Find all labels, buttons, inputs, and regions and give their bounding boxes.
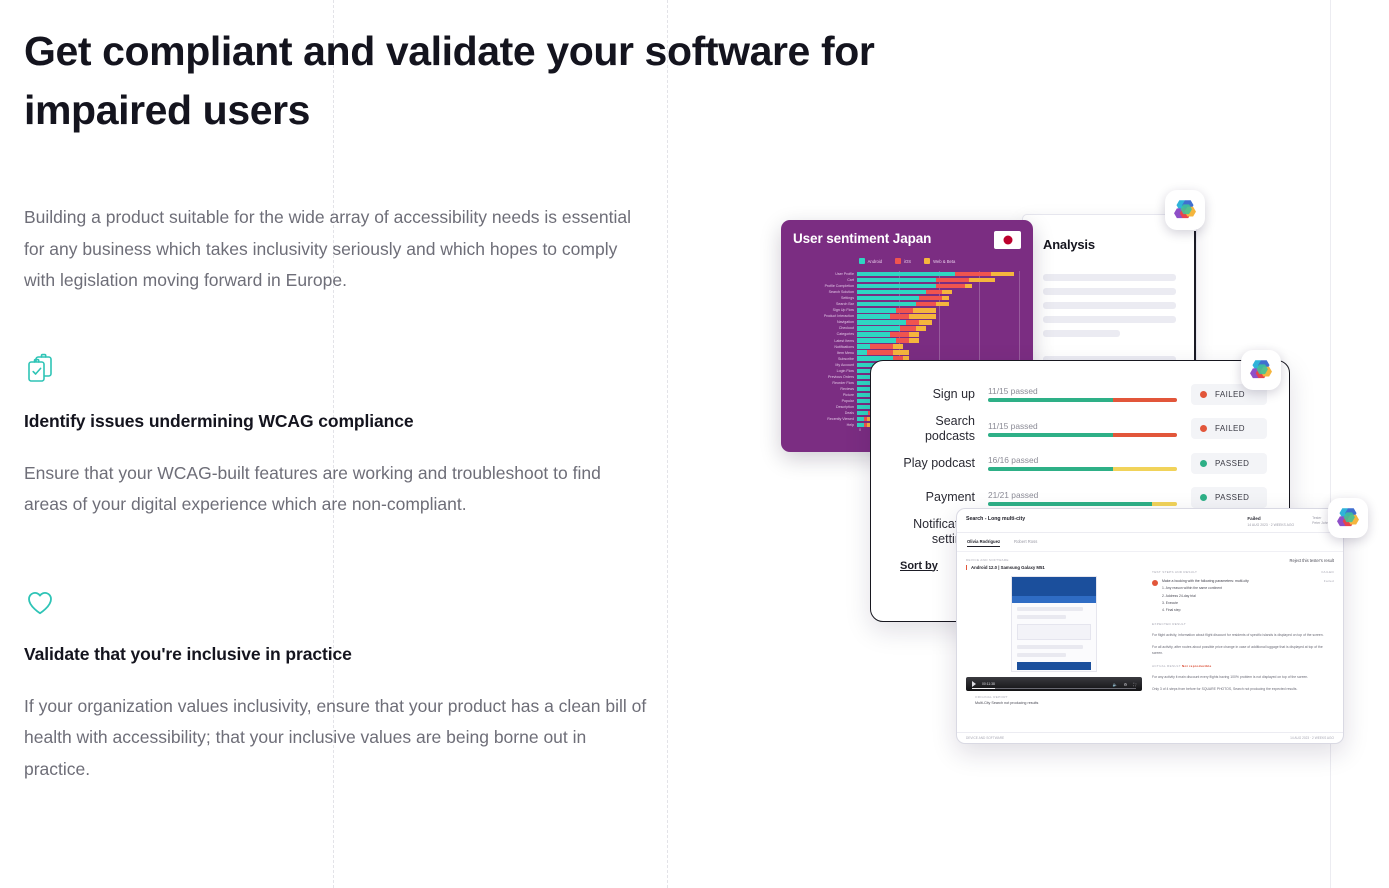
original-report-text: Multi-City Search not producing results xyxy=(975,701,1133,705)
chart-bar-segment xyxy=(890,332,910,336)
skeleton-line xyxy=(1043,288,1176,295)
test-progress: 11/15 passed xyxy=(988,421,1191,437)
chart-bar-segment xyxy=(867,350,893,354)
hexagon-logo-icon xyxy=(1241,350,1281,390)
actual-result-flag: Not reproducible xyxy=(1182,664,1212,668)
feature-title: Identify issues undermining WCAG complia… xyxy=(24,411,664,432)
chart-bar-track xyxy=(857,332,1021,336)
tester-tabs[interactable]: Olivia Rodriguez Robert Ross xyxy=(957,533,1343,552)
chart-bar-track xyxy=(857,344,1021,348)
analysis-title: Analysis xyxy=(1043,237,1176,252)
page-title: Get compliant and validate your software… xyxy=(24,22,984,140)
chart-bar-segment xyxy=(857,344,870,348)
chart-bar-segment xyxy=(857,308,896,312)
test-row[interactable]: Search podcasts11/15 passedFAILED xyxy=(893,412,1267,447)
test-progress-bar xyxy=(988,467,1177,471)
progress-pass-segment xyxy=(988,398,1113,402)
chart-bar-label: Search Solution xyxy=(793,290,857,294)
chart-bar-segment xyxy=(909,338,919,342)
legend-swatch xyxy=(924,258,930,264)
chart-bar-segment xyxy=(919,320,932,324)
chart-bar-segment xyxy=(857,314,890,318)
expected-result-block: EXPECTED RESULT For flight activity, inf… xyxy=(1152,622,1334,656)
chart-legend: AndroidiOSWeb & Beta xyxy=(793,258,1021,264)
volume-icon[interactable]: 🔈 xyxy=(1113,682,1118,687)
chart-bar-track xyxy=(857,302,1021,306)
fail-dot-icon xyxy=(1200,425,1207,432)
chart-bar-label: Sign Up Flow xyxy=(793,308,857,312)
chart-bar-label: Recently Viewed xyxy=(793,417,857,421)
chart-bar-segment xyxy=(893,350,909,354)
app-line xyxy=(1017,653,1066,657)
feature-body: If your organization values inclusivity,… xyxy=(24,691,649,786)
chart-bar-label: Settings xyxy=(793,296,857,300)
chart-bar-label: Deals xyxy=(793,411,857,415)
chart-bar-segment xyxy=(916,302,936,306)
status-badge: PASSED xyxy=(1191,453,1267,474)
status-label: FAILED xyxy=(1215,390,1245,399)
step-bullet: 2. Address 24-day trial xyxy=(1162,594,1320,599)
test-count: 11/15 passed xyxy=(988,386,1177,396)
chart-bar-label: Help xyxy=(793,423,857,427)
chart-bar-segment xyxy=(857,320,906,324)
expected-kicker: EXPECTED RESULT xyxy=(1152,622,1334,626)
steps-header: TEST STEPS AND RESULT FAILED xyxy=(1152,570,1334,574)
step-title: Make a booking with the following parame… xyxy=(1162,579,1320,584)
chart-bar-segment xyxy=(890,314,910,318)
device-name: Android 12.0 | Samsung Galaxy M51 xyxy=(966,565,1142,570)
feature-block-compliance: Identify issues undermining WCAG complia… xyxy=(24,353,664,521)
chart-bar-segment xyxy=(942,290,952,294)
chart-bar-segment xyxy=(913,308,936,312)
progress-pass-segment xyxy=(988,467,1113,471)
chart-bar-label: Product Interaction xyxy=(793,314,857,318)
page-root: Get compliant and validate your software… xyxy=(0,0,1389,888)
heart-icon xyxy=(24,586,56,618)
fail-dot-icon xyxy=(1152,580,1158,586)
chart-bar-segment xyxy=(857,284,936,288)
chart-bar-label: Picture xyxy=(793,393,857,397)
test-progress-bar xyxy=(988,433,1177,437)
original-report-kicker: ORIGINAL REPORT xyxy=(975,695,1133,699)
footer-right-text: 14 AUG 2023 · 2 WEEKS AGO xyxy=(1290,736,1334,740)
pass-dot-icon xyxy=(1200,494,1207,501)
chart-bar-label: Categories xyxy=(793,332,857,336)
progress-remainder-segment xyxy=(1113,398,1177,402)
test-count: 11/15 passed xyxy=(988,421,1177,431)
chart-bar-label: Profile Completion xyxy=(793,284,857,288)
actual-text-2: Only 3 of 4 steps from before for SQUARE… xyxy=(1152,687,1334,692)
detail-footer: DEVICE AND SOFTWARE 14 AUG 2023 · 2 WEEK… xyxy=(957,732,1343,743)
chart-bar-label: Description xyxy=(793,405,857,409)
test-count: 16/16 passed xyxy=(988,455,1177,465)
legend-swatch xyxy=(859,258,865,264)
steps-kicker: TEST STEPS AND RESULT xyxy=(1152,570,1197,574)
expected-text-2: For all activity, after routes about pos… xyxy=(1152,645,1334,656)
status-label: PASSED xyxy=(1215,493,1249,502)
sentiment-card-title: User sentiment Japan xyxy=(793,231,931,246)
test-row[interactable]: Sign up11/15 passedFAILED xyxy=(893,377,1267,412)
step-bullet: 3. Execute xyxy=(1162,601,1320,606)
chart-bar-segment xyxy=(936,302,949,306)
chart-bar-segment xyxy=(965,284,972,288)
chart-bar-segment xyxy=(955,272,991,276)
test-detail-card: Search - Long multi-city Failed 14 AUG 2… xyxy=(956,508,1344,744)
step-item: Make a booking with the following parame… xyxy=(1152,579,1334,614)
test-progress: 16/16 passed xyxy=(988,455,1191,471)
status-label: PASSED xyxy=(1215,459,1249,468)
settings-icon[interactable]: ⚙ xyxy=(1124,682,1128,687)
chart-bar-track xyxy=(857,326,1021,330)
chart-bar-label: Cart xyxy=(793,278,857,282)
footer-left-text: DEVICE AND SOFTWARE xyxy=(966,736,1004,740)
detail-left-column: DEVICE AND SOFTWARE Android 12.0 | Samsu… xyxy=(966,558,1142,705)
player-timestamp: 00:11:38 xyxy=(982,682,995,686)
test-row[interactable]: Play podcast16/16 passedPASSED xyxy=(893,446,1267,481)
chart-bar-label: Login Flow xyxy=(793,369,857,373)
chart-bar-segment xyxy=(857,290,926,294)
chart-bar-track xyxy=(857,338,1021,342)
actual-result-block: ACTUAL RESULT Not reproducible For any a… xyxy=(1152,664,1334,693)
steps-status: FAILED xyxy=(1322,570,1334,574)
app-cta-button xyxy=(1017,662,1091,670)
chart-bar-segment xyxy=(857,405,870,409)
test-progress: 11/15 passed xyxy=(988,386,1191,402)
chart-bar-segment xyxy=(857,350,867,354)
chart-bar-segment xyxy=(896,338,909,342)
video-player-controls[interactable]: 00:11:38 🔈 ⚙ ⛶ xyxy=(966,677,1142,691)
status-timestamp: 14 AUG 2023 · 2 WEEKS AGO xyxy=(1247,523,1294,527)
chart-bar-segment xyxy=(857,302,916,306)
chart-bar-segment xyxy=(870,344,893,348)
chart-bar-label: Search Bar xyxy=(793,302,857,306)
detail-body: DEVICE AND SOFTWARE Android 12.0 | Samsu… xyxy=(957,552,1343,711)
app-line xyxy=(1017,615,1066,619)
progress-remainder-segment xyxy=(1113,433,1177,437)
app-header-bar xyxy=(1012,577,1096,596)
detail-header-right: Failed 14 AUG 2023 · 2 WEEKS AGO Tester … xyxy=(1247,516,1334,527)
chart-bar-label: Reorder Flow xyxy=(793,381,857,385)
chart-bar-segment xyxy=(896,308,912,312)
chart-bar-segment xyxy=(857,411,868,415)
progress-remainder-segment xyxy=(1152,502,1177,506)
feature-body: Ensure that your WCAG-built features are… xyxy=(24,458,649,521)
test-name: Payment xyxy=(893,490,988,505)
chart-bar-segment xyxy=(942,296,949,300)
play-icon[interactable] xyxy=(972,681,976,687)
legend-item: iOS xyxy=(895,258,911,264)
chart-bar-label: Navigation xyxy=(793,320,857,324)
actual-text-1: For any activity it main discount every … xyxy=(1152,675,1334,680)
legend-label: iOS xyxy=(904,259,911,264)
feature-title: Validate that you're inclusive in practi… xyxy=(24,644,664,665)
chart-bar-label: My Account xyxy=(793,363,857,367)
chart-bar-segment xyxy=(857,332,890,336)
hexagon-logo-glyph xyxy=(1248,357,1274,383)
test-progress-bar xyxy=(988,502,1177,506)
app-line xyxy=(1017,607,1083,611)
japan-flag-icon xyxy=(994,231,1021,249)
test-name: Play podcast xyxy=(893,456,988,471)
legend-item: Web & Beta xyxy=(924,258,955,264)
chart-bar-segment xyxy=(857,338,896,342)
step-bullet: 1. Any reason within the same continent xyxy=(1162,586,1320,591)
legend-label: Android xyxy=(868,259,882,264)
test-count: 21/21 passed xyxy=(988,490,1177,500)
chart-bar-segment xyxy=(936,278,969,282)
tab-olivia-rodriguez[interactable]: Olivia Rodriguez xyxy=(967,539,1000,547)
chart-bar-track xyxy=(857,308,1021,312)
chart-bar-segment xyxy=(909,332,919,336)
sentiment-card-header: User sentiment Japan xyxy=(793,231,1021,249)
chart-bar-label: Checkout xyxy=(793,326,857,330)
detail-status-block: Failed 14 AUG 2023 · 2 WEEKS AGO xyxy=(1247,516,1294,527)
chart-bar-segment xyxy=(857,272,955,276)
chart-bar-label: Reviews xyxy=(793,387,857,391)
chart-bar-track xyxy=(857,296,1021,300)
pass-dot-icon xyxy=(1200,460,1207,467)
expected-text: For flight activity, information about f… xyxy=(1152,633,1334,638)
chart-bar-track xyxy=(857,314,1021,318)
chart-bar-segment xyxy=(926,290,942,294)
feature-block-inclusive: Validate that you're inclusive in practi… xyxy=(24,586,664,786)
status-badge: Failed xyxy=(1247,516,1294,521)
legend-label: Web & Beta xyxy=(933,259,955,264)
progress-pass-segment xyxy=(988,433,1113,437)
app-field xyxy=(1017,624,1091,640)
hexagon-logo-icon xyxy=(1328,498,1368,538)
clipboard-check-icon xyxy=(24,353,56,385)
app-subheader-bar xyxy=(1012,596,1096,603)
skeleton-line xyxy=(1043,330,1120,337)
test-name: Sign up xyxy=(893,387,988,402)
test-name: Search podcasts xyxy=(893,414,988,444)
chart-bar-segment xyxy=(916,326,926,330)
step-status-tag: Failed xyxy=(1324,579,1334,614)
original-report-block: ORIGINAL REPORT Multi-City Search not pr… xyxy=(966,691,1142,705)
skeleton-line xyxy=(1043,302,1176,309)
chart-bar-segment xyxy=(919,296,942,300)
chart-bar-track xyxy=(857,350,1021,354)
fullscreen-icon[interactable]: ⛶ xyxy=(1133,682,1136,687)
detail-title: Search - Long multi-city xyxy=(966,516,1025,522)
test-progress-bar xyxy=(988,398,1177,402)
chart-bar-segment xyxy=(857,326,900,330)
skeleton-line xyxy=(1043,316,1176,323)
hexagon-logo-glyph xyxy=(1172,197,1198,223)
hexagon-logo-glyph xyxy=(1335,505,1361,531)
actual-kicker-text: ACTUAL RESULT xyxy=(1152,664,1181,668)
test-progress: 21/21 passed xyxy=(988,490,1191,506)
intro-paragraph: Building a product suitable for the wide… xyxy=(24,202,649,297)
chart-bar-label: User Profile xyxy=(793,272,857,276)
legend-item: Android xyxy=(859,258,882,264)
chart-bar-segment xyxy=(893,344,903,348)
chart-bar-label: Subscribe xyxy=(793,357,857,361)
chart-bar-track xyxy=(857,320,1021,324)
actual-kicker: ACTUAL RESULT Not reproducible xyxy=(1152,664,1334,668)
device-kicker: DEVICE AND SOFTWARE xyxy=(966,558,1142,562)
chart-bar-segment xyxy=(991,272,1014,276)
chart-bar-label: Notifications xyxy=(793,345,857,349)
chart-bar-track xyxy=(857,290,1021,294)
app-line xyxy=(1017,645,1083,649)
chart-bar-label: Previous Orders xyxy=(793,375,857,379)
content-column: Get compliant and validate your software… xyxy=(24,22,664,785)
legend-swatch xyxy=(895,258,901,264)
detail-right-column: Reject this tester's result TEST STEPS A… xyxy=(1152,558,1334,705)
detail-header: Search - Long multi-city Failed 14 AUG 2… xyxy=(957,509,1343,533)
session-screenshot[interactable] xyxy=(1011,576,1097,672)
reject-result-link[interactable]: Reject this tester's result xyxy=(1152,558,1334,563)
chart-bar-segment xyxy=(909,314,935,318)
product-screenshot-composition: Analysis User sentiment Japan AndroidiOS… xyxy=(760,195,1380,775)
chart-bar-track xyxy=(857,284,1021,288)
chart-bar-label: Item Menu xyxy=(793,351,857,355)
sort-by-button[interactable]: Sort by xyxy=(900,560,938,572)
chart-bar-label: Popular xyxy=(793,399,857,403)
chart-bar-track xyxy=(857,278,1021,282)
status-label: FAILED xyxy=(1215,424,1245,433)
skeleton-line xyxy=(1043,274,1176,281)
chart-bar-segment xyxy=(906,320,919,324)
chart-bar-segment xyxy=(857,296,919,300)
chart-bar-segment xyxy=(969,278,995,282)
player-scrubber[interactable] xyxy=(972,688,1136,689)
status-badge: PASSED xyxy=(1191,487,1267,508)
chart-bar-segment xyxy=(857,278,936,282)
status-badge: FAILED xyxy=(1191,418,1267,439)
progress-pass-segment xyxy=(988,502,1152,506)
progress-remainder-segment xyxy=(1113,467,1177,471)
step-bullet: 4. Final step xyxy=(1162,608,1320,613)
hexagon-logo-icon xyxy=(1165,190,1205,230)
tab-robert-ross[interactable]: Robert Ross xyxy=(1014,539,1037,547)
chart-bar-segment xyxy=(900,326,916,330)
fail-dot-icon xyxy=(1200,391,1207,398)
chart-bar-track xyxy=(857,272,1021,276)
chart-bar-segment xyxy=(936,284,966,288)
chart-bar-label: Latest Items xyxy=(793,339,857,343)
